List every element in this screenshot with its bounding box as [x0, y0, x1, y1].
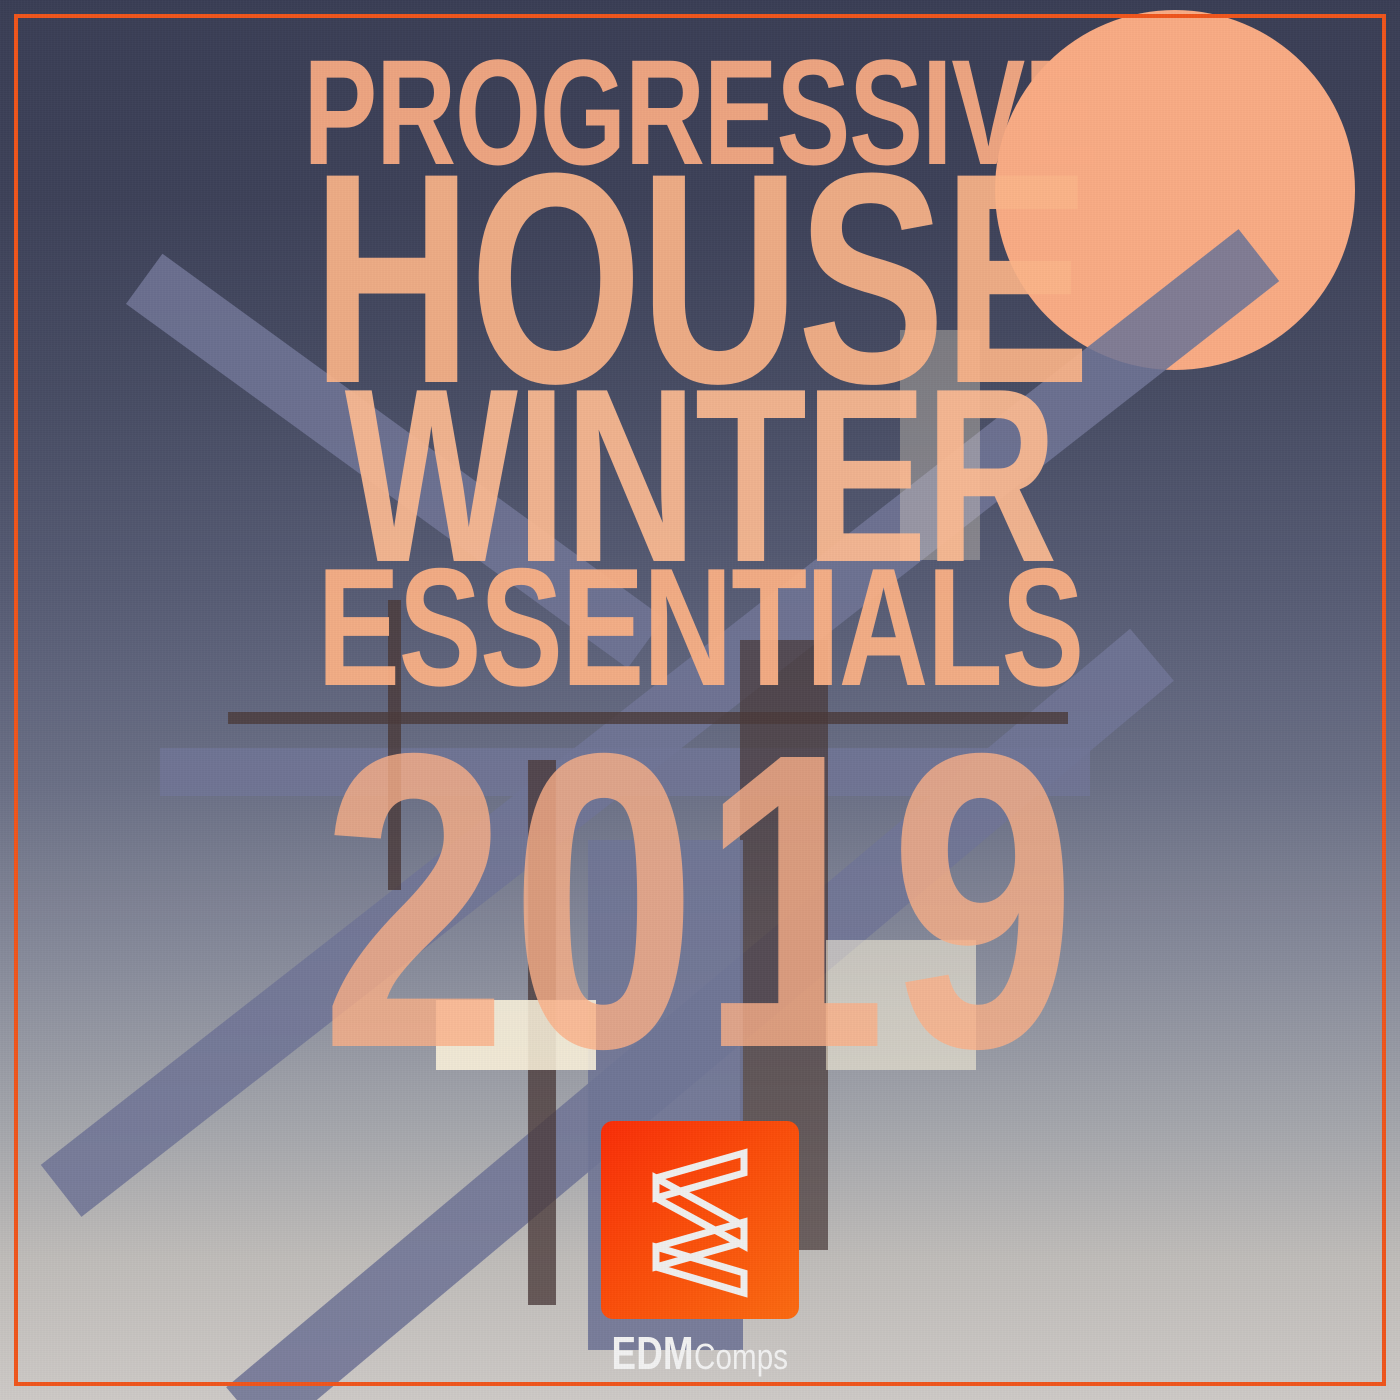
album-cover: 2019 PROGRESSIVE HOUSE WINTER ESSENTIALS… — [0, 0, 1400, 1400]
brown-cross-vertical — [388, 600, 401, 890]
label-logo: EDMComps — [0, 1121, 1400, 1376]
slate-horizontal-bar — [160, 748, 1090, 796]
warm-wash-lower-left — [436, 1000, 596, 1070]
brown-cross-horizontal — [228, 712, 1068, 724]
warm-wash-lower-right — [826, 940, 976, 1070]
edmcomps-zigzag-icon — [601, 1121, 799, 1319]
label-wordmark-comps: Comps — [694, 1339, 788, 1375]
label-wordmark-edm: EDM — [612, 1330, 694, 1376]
label-wordmark: EDMComps — [0, 1330, 1400, 1376]
